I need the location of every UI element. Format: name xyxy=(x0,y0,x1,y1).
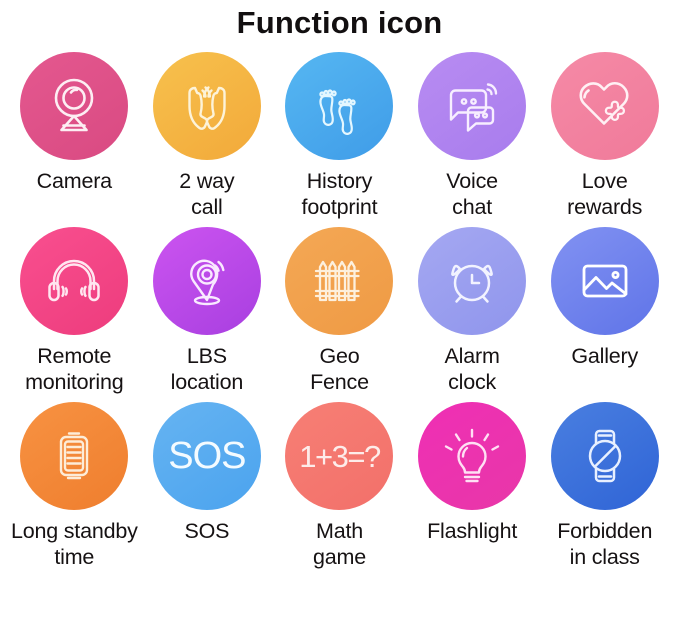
history-footprint-circle[interactable] xyxy=(285,52,393,160)
alarm-clock-icon xyxy=(439,248,505,314)
page-title: Function icon xyxy=(0,3,679,43)
sos-circle[interactable]: SOS xyxy=(153,402,261,510)
function-item-label: Flashlight xyxy=(427,519,517,545)
function-item-camera[interactable]: Camera xyxy=(8,43,141,218)
webcam-icon xyxy=(41,73,107,139)
function-item-label: Gallery xyxy=(571,344,638,370)
two-way-call-circle[interactable] xyxy=(153,52,261,160)
function-item-long-standby-time[interactable]: Long standbytime xyxy=(8,393,141,568)
lbs-location-circle[interactable] xyxy=(153,227,261,335)
function-item-forbidden-in-class[interactable]: Forbiddenin class xyxy=(538,393,671,568)
image-gallery-icon xyxy=(574,250,636,312)
function-item-remote-monitoring[interactable]: Remotemonitoring xyxy=(8,218,141,393)
function-item-label: Alarmclock xyxy=(445,344,500,395)
function-item-sos[interactable]: SOS SOS xyxy=(141,393,274,568)
geo-fence-circle[interactable] xyxy=(285,227,393,335)
gallery-circle[interactable] xyxy=(551,227,659,335)
forbidden-in-class-circle[interactable] xyxy=(551,402,659,510)
watch-forbidden-icon xyxy=(573,424,637,488)
function-item-label: SOS xyxy=(184,519,229,545)
function-item-gallery[interactable]: Gallery xyxy=(538,218,671,393)
remote-monitoring-circle[interactable] xyxy=(20,227,128,335)
function-icon-grid: Camera 2 waycall xyxy=(0,43,679,568)
sos-text-icon: SOS xyxy=(168,437,245,475)
function-item-geo-fence[interactable]: GeoFence xyxy=(273,218,406,393)
function-item-label: Historyfootprint xyxy=(302,169,378,220)
function-item-label: Loverewards xyxy=(567,169,642,220)
function-item-history-footprint[interactable]: Historyfootprint xyxy=(273,43,406,218)
function-item-label: 2 waycall xyxy=(179,169,234,220)
function-item-voice-chat[interactable]: Voicechat xyxy=(406,43,539,218)
function-item-label: Mathgame xyxy=(313,519,366,570)
function-item-label: Camera xyxy=(37,169,112,195)
function-item-label: Voicechat xyxy=(446,169,498,220)
function-item-label: GeoFence xyxy=(310,344,369,395)
camera-circle[interactable] xyxy=(20,52,128,160)
math-game-circle[interactable]: 1+3=? xyxy=(285,402,393,510)
function-item-label: LBSlocation xyxy=(171,344,244,395)
alarm-clock-circle[interactable] xyxy=(418,227,526,335)
fence-icon xyxy=(306,248,372,314)
love-rewards-circle[interactable] xyxy=(551,52,659,160)
math-equation-icon: 1+3=? xyxy=(299,441,379,472)
voice-chat-circle[interactable] xyxy=(418,52,526,160)
function-item-alarm-clock[interactable]: Alarmclock xyxy=(406,218,539,393)
function-item-flashlight[interactable]: Flashlight xyxy=(406,393,539,568)
two-way-call-icon xyxy=(174,73,240,139)
flashlight-circle[interactable] xyxy=(418,402,526,510)
footprints-icon xyxy=(306,73,372,139)
lightbulb-icon xyxy=(439,423,505,489)
battery-icon xyxy=(41,423,107,489)
map-pin-icon xyxy=(173,247,241,315)
function-item-label: Remotemonitoring xyxy=(25,344,123,395)
headphones-icon xyxy=(40,247,108,315)
function-item-label: Long standbytime xyxy=(11,519,138,570)
function-item-label: Forbiddenin class xyxy=(557,519,652,570)
long-standby-circle[interactable] xyxy=(20,402,128,510)
function-item-lbs-location[interactable]: LBSlocation xyxy=(141,218,274,393)
function-item-math-game[interactable]: 1+3=? Mathgame xyxy=(273,393,406,568)
heart-plus-icon xyxy=(571,72,639,140)
function-item-love-rewards[interactable]: Loverewards xyxy=(538,43,671,218)
voice-chat-icon xyxy=(438,72,506,140)
function-item-two-way-call[interactable]: 2 waycall xyxy=(141,43,274,218)
